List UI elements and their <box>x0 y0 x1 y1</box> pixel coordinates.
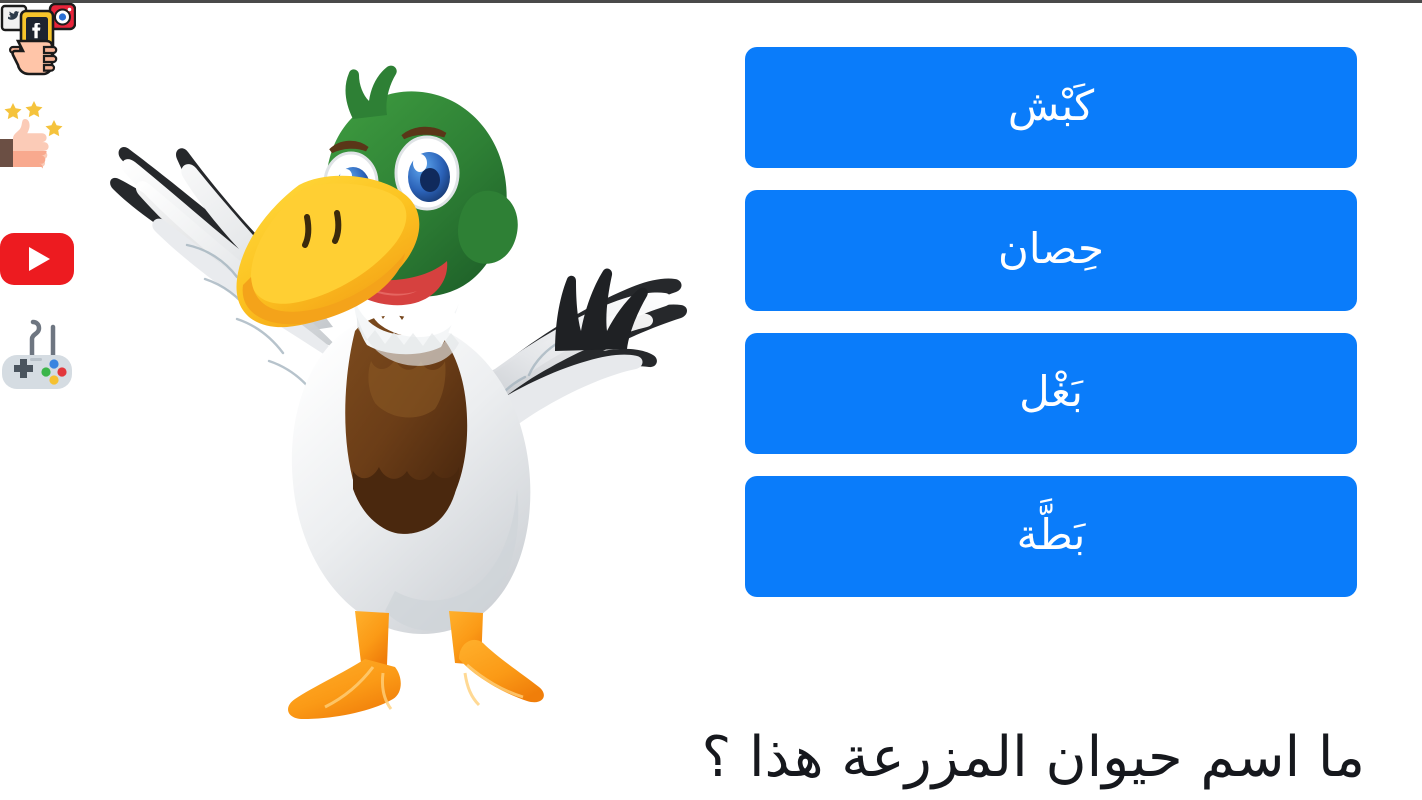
answer-option-2[interactable]: حِصان <box>745 190 1357 311</box>
answer-option-1[interactable]: كَبْش <box>745 47 1357 168</box>
answer-option-3[interactable]: بَغْل <box>745 333 1357 454</box>
duck-illustration <box>55 31 695 721</box>
rate-us-icon[interactable] <box>0 95 76 171</box>
more-games-icon[interactable] <box>0 315 76 391</box>
social-media-icon[interactable] <box>0 3 76 79</box>
answer-options: كَبْش حِصان بَغْل بَطَّة <box>745 47 1357 597</box>
question-text: ما اسم حيوان المزرعة هذا ؟ <box>0 729 1365 788</box>
youtube-icon[interactable] <box>0 217 76 293</box>
answer-option-4[interactable]: بَطَّة <box>745 476 1357 597</box>
quiz-screen: كَبْش حِصان بَغْل بَطَّة ما اسم حيوان ال… <box>0 0 1422 800</box>
side-rail <box>0 3 80 800</box>
